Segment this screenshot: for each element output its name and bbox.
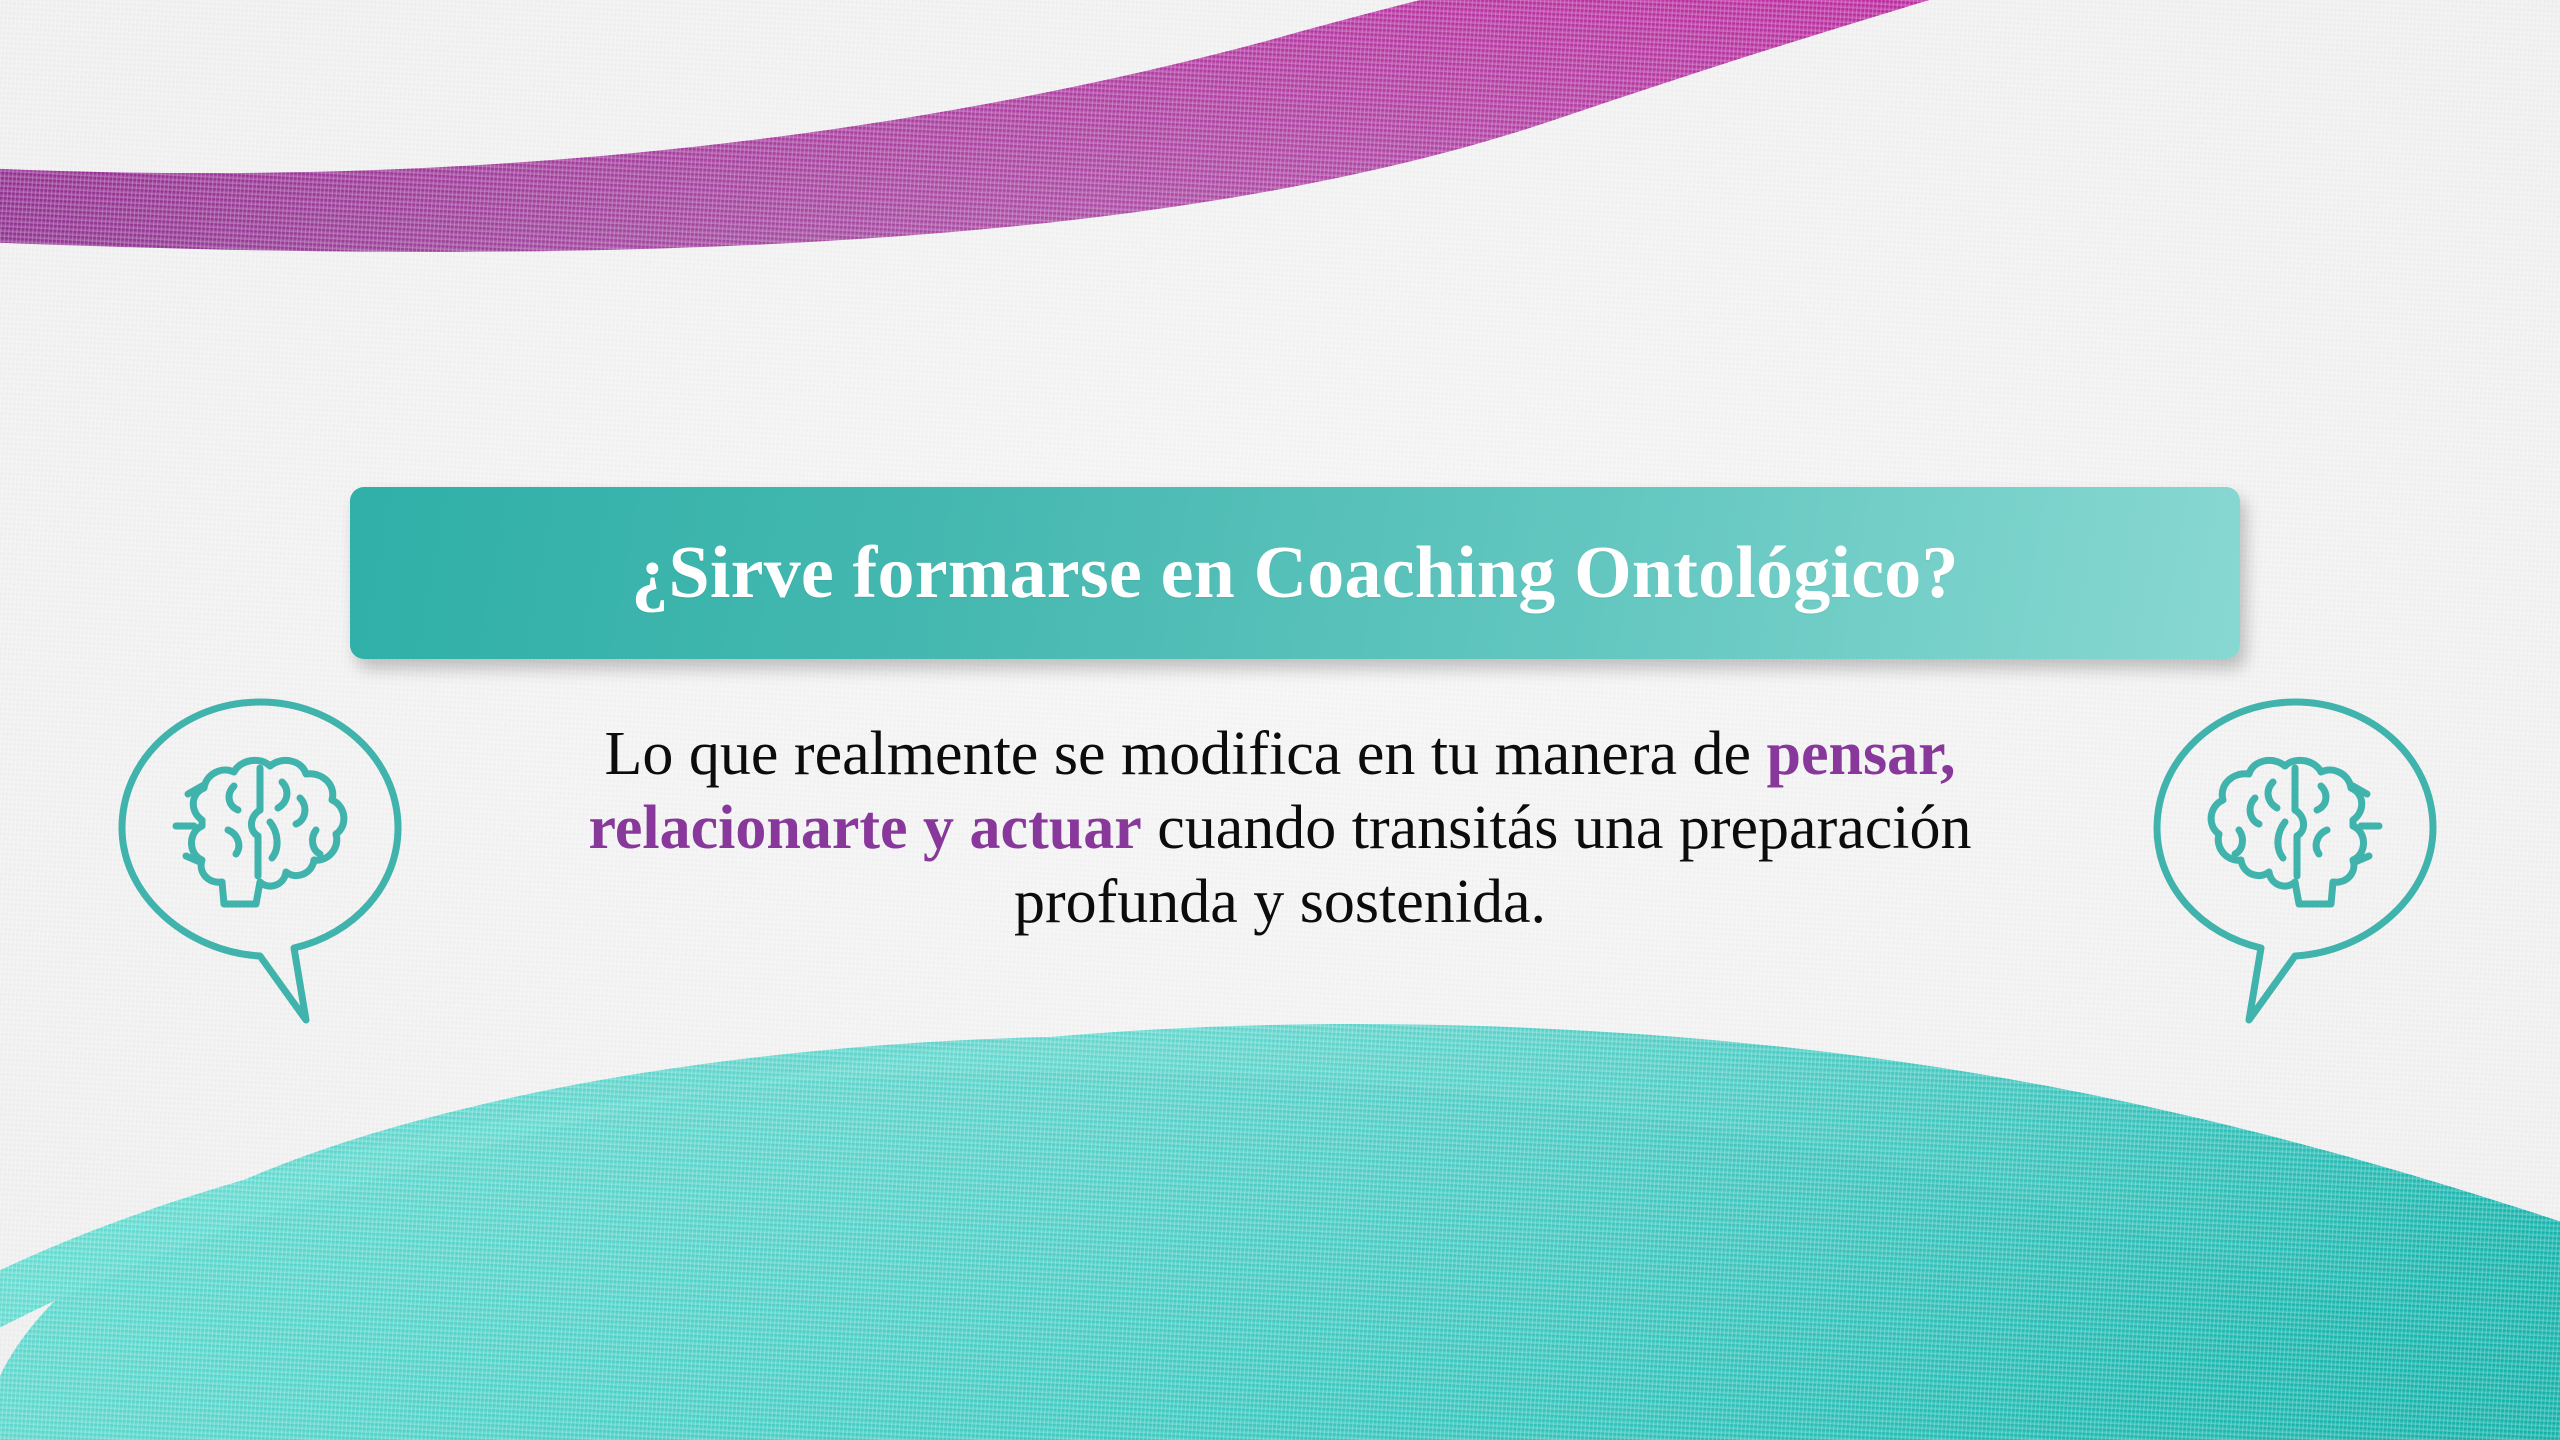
magenta-wave-shape: [0, 0, 2330, 252]
body-line-1: Lo que realmente se modifica en tu maner…: [605, 720, 1752, 788]
slide-canvas: ¿Sirve formarse en Coaching Ontológico? …: [0, 0, 2560, 1440]
body-paragraph: Lo que realmente se modifica en tu maner…: [470, 718, 2090, 939]
banner-title-text: ¿Sirve formarse en Coaching Ontológico?: [631, 536, 1958, 610]
title-banner: ¿Sirve formarse en Coaching Ontológico?: [350, 487, 2240, 659]
brain-speech-bubble-icon-right: [2145, 690, 2445, 1030]
brain-speech-bubble-icon-left: [110, 690, 410, 1030]
body-line-2-tail: cuando transitás: [1142, 794, 1559, 862]
